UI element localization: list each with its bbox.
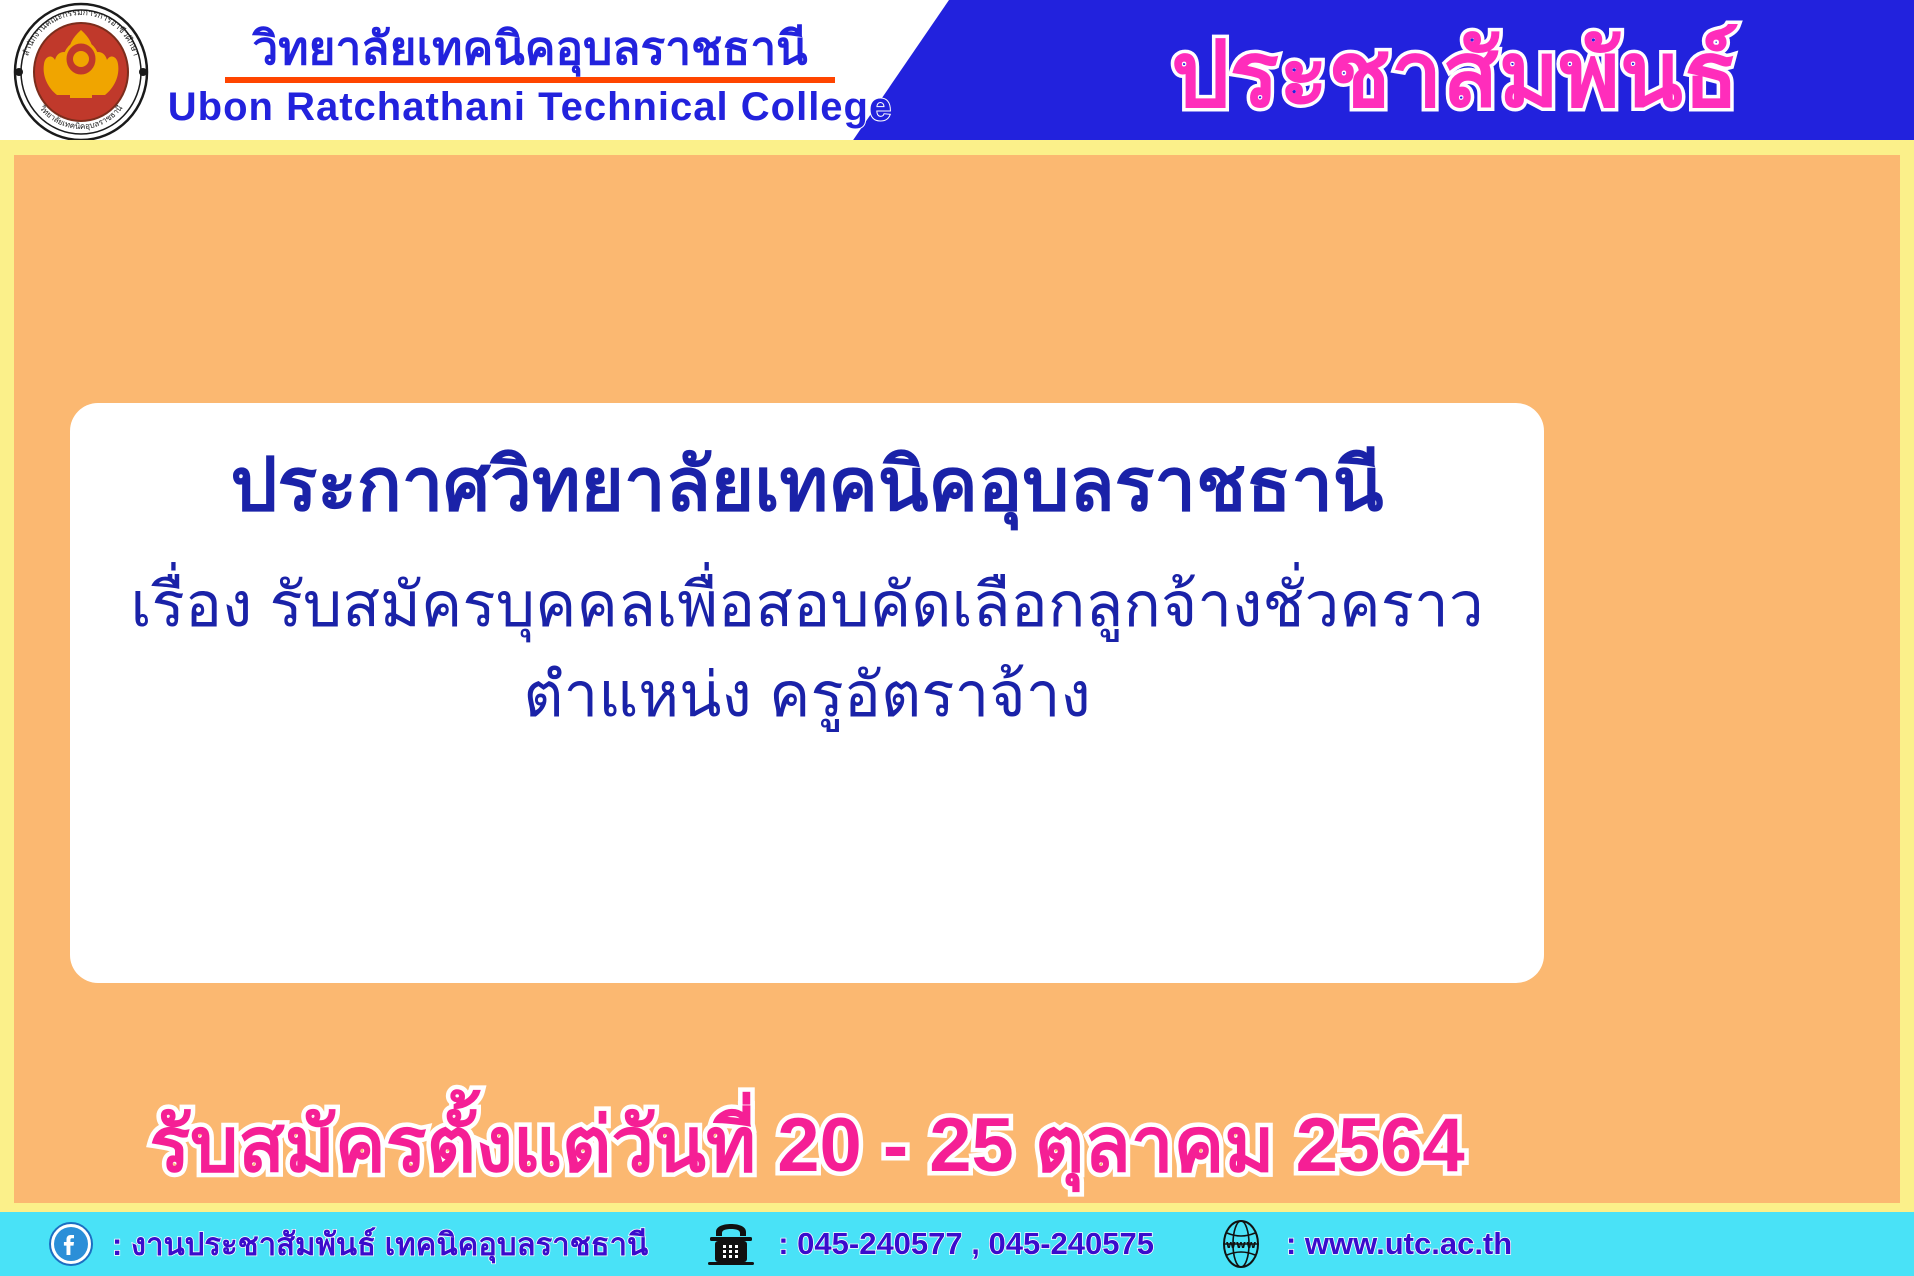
telephone-icon xyxy=(706,1222,756,1266)
name-divider xyxy=(225,77,835,83)
announcement-position: ตำแหน่ง ครูอัตราจ้าง xyxy=(523,656,1091,737)
announcement-poster: สำนักงานคณะกรรมการการอาชีวศึกษา วิทยาลัย… xyxy=(0,0,1914,1276)
college-name-en: Ubon Ratchathani Technical College xyxy=(168,87,892,127)
facebook-icon[interactable] xyxy=(48,1221,94,1267)
facebook-label: : งานประชาสัมพันธ์ เทคนิคอุบลราชธานี xyxy=(112,1219,648,1269)
college-logo: สำนักงานคณะกรรมการการอาชีวศึกษา วิทยาลัย… xyxy=(6,2,156,142)
poster-footer: : งานประชาสัมพันธ์ เทคนิคอุบลราชธานี : 0… xyxy=(0,1212,1914,1276)
svg-text:www: www xyxy=(1226,1238,1257,1251)
college-name-block: วิทยาลัยเทคนิคอุบลราชธานี Ubon Ratchatha… xyxy=(160,6,900,146)
ovec-emblem-logo: สำนักงานคณะกรรมการการอาชีวศึกษา วิทยาลัย… xyxy=(6,2,156,142)
globe-www-icon: www xyxy=(1216,1219,1266,1269)
announcement-title: ประกาศวิทยาลัยเทคนิคอุบลราชธานี xyxy=(231,439,1384,532)
college-name-th: วิทยาลัยเทคนิคอุบลราชธานี xyxy=(252,25,807,71)
phone-label: : 045-240577 , 045-240575 xyxy=(778,1226,1154,1262)
public-relations-banner: ประชาสัมพันธ์ xyxy=(1010,8,1900,138)
poster-body-background: ประกาศวิทยาลัยเทคนิคอุบลราชธานี เรื่อง ร… xyxy=(14,155,1900,1203)
website-label: : www.utc.ac.th xyxy=(1286,1226,1512,1262)
announcement-subject: เรื่อง รับสมัครบุคคลเพื่อสอบคัดเลือกลูกจ… xyxy=(130,566,1483,647)
announcement-card: ประกาศวิทยาลัยเทคนิคอุบลราชธานี เรื่อง ร… xyxy=(70,403,1544,983)
application-date-line: รับสมัครตั้งแต่วันที่ 20 - 25 ตุลาคม 256… xyxy=(14,1085,1600,1205)
